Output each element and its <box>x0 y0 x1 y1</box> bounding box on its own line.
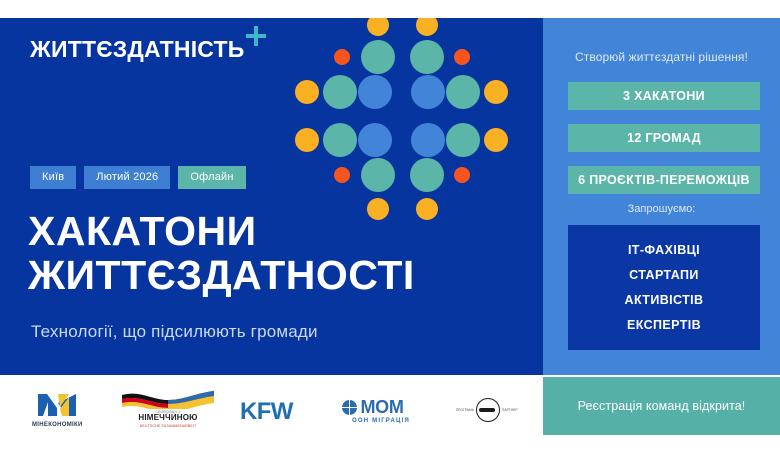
circular-emblem-icon <box>476 398 500 422</box>
page-title: ХАКАТОНИ ЖИТТЄЗДАТНОСТІ <box>28 210 415 298</box>
invite-item: СТАРТАПИ <box>629 268 699 282</box>
decor-dot <box>416 198 438 220</box>
registration-cta-text: Реєстрація команд відкрита! <box>578 399 746 413</box>
invite-item: ІТ-ФАХІВЦІ <box>628 243 700 257</box>
logo-kfw[interactable]: KFW <box>240 398 293 426</box>
logo-partner-right-text: ПАРТНЕР <box>502 408 528 412</box>
logo-iom-sublabel: ООН МІГРАЦІЯ <box>352 418 410 424</box>
logo-iom-label: MOM <box>360 398 403 416</box>
logo-iom-row: MOM <box>342 398 403 416</box>
invite-label: Запрошуємо: <box>543 203 780 215</box>
decor-dot <box>410 158 444 192</box>
decor-dot <box>454 49 470 65</box>
german-ukrainian-flag-wave-icon <box>122 391 214 409</box>
decor-dot <box>484 128 508 152</box>
decor-dot <box>454 167 470 183</box>
decor-dot <box>367 18 389 36</box>
logo-partner-left-text: ПРОГРАМА <box>448 408 474 412</box>
decor-dot <box>295 80 319 104</box>
logo-kfw-label: KFW <box>240 398 293 426</box>
invite-item: ЕКСПЕРТІВ <box>627 318 701 332</box>
logo-german-cooperation-tiny: DEUTSCHE ZUSAMMENARBEIT <box>140 424 197 428</box>
decor-dot <box>411 123 445 157</box>
logo-mineconomy-label: МІНЕКОНОМІКИ <box>32 422 83 428</box>
invite-item: АКТИВІСТІВ <box>625 293 704 307</box>
logo-partner-emblem[interactable]: ПРОГРАМА ПАРТНЕР <box>448 398 528 422</box>
stat-button-winning-projects[interactable]: 6 ПРОЄКТІВ-ПЕРЕМОЖЦІВ <box>568 166 760 194</box>
headline-line-2: ЖИТТЄЗДАТНОСТІ <box>28 254 415 298</box>
right-panel-title: Створюй життєздатні рішення! <box>543 50 780 64</box>
event-meta-tags: КиївЛютий 2026Офлайн <box>30 166 246 189</box>
logo-iom[interactable]: MOM ООН МІГРАЦІЯ <box>336 398 410 424</box>
decor-dot <box>410 40 444 74</box>
registration-cta-banner[interactable]: Реєстрація команд відкрита! <box>543 377 780 435</box>
logo-partner-emblem-row: ПРОГРАМА ПАРТНЕР <box>448 398 528 422</box>
decor-dot <box>446 123 480 157</box>
decor-dot <box>358 123 392 157</box>
decor-dot <box>334 167 350 183</box>
page-subtitle: Технології, що підсилюють громади <box>31 322 318 342</box>
headline-line-1: ХАКАТОНИ <box>28 208 257 254</box>
event-tag[interactable]: Офлайн <box>178 166 245 189</box>
decor-dot <box>416 18 438 36</box>
event-tag[interactable]: Лютий 2026 <box>84 166 170 189</box>
decor-dot <box>334 49 350 65</box>
stat-button-hackathons[interactable]: 3 ХАКАТОНИ <box>568 82 760 110</box>
logo-german-cooperation-main: НІМЕЧЧИНОЮ <box>138 414 197 423</box>
logo-german-cooperation[interactable]: співпраця з НІМЕЧЧИНОЮ DEUTSCHE ZUSAMMEN… <box>122 391 214 428</box>
decor-dot <box>323 75 357 109</box>
plus-icon <box>246 26 266 46</box>
event-tag[interactable]: Київ <box>30 166 76 189</box>
logo-mineconomy[interactable]: МІНЕКОНОМІКИ <box>32 392 83 428</box>
m-monogram-icon <box>36 392 78 418</box>
decor-dot <box>323 123 357 157</box>
decor-dot <box>446 75 480 109</box>
stat-button-communities[interactable]: 12 ГРОМАД <box>568 124 760 152</box>
decor-dot <box>411 75 445 109</box>
decor-dot <box>295 128 319 152</box>
decor-dot <box>361 40 395 74</box>
decor-dot <box>484 80 508 104</box>
decor-dot <box>358 75 392 109</box>
brand-logo[interactable]: ЖИТТЄЗДАТНІСТЬ <box>30 38 266 61</box>
poster-canvas: ЖИТТЄЗДАТНІСТЬ КиївЛютий 2026Офлайн ХАКА… <box>0 0 780 455</box>
brand-logo-text: ЖИТТЄЗДАТНІСТЬ <box>30 38 245 61</box>
globe-icon <box>342 400 357 415</box>
invite-audience-box: ІТ-ФАХІВЦІСТАРТАПИАКТИВІСТІВЕКСПЕРТІВ <box>568 225 760 350</box>
decor-dot <box>361 158 395 192</box>
